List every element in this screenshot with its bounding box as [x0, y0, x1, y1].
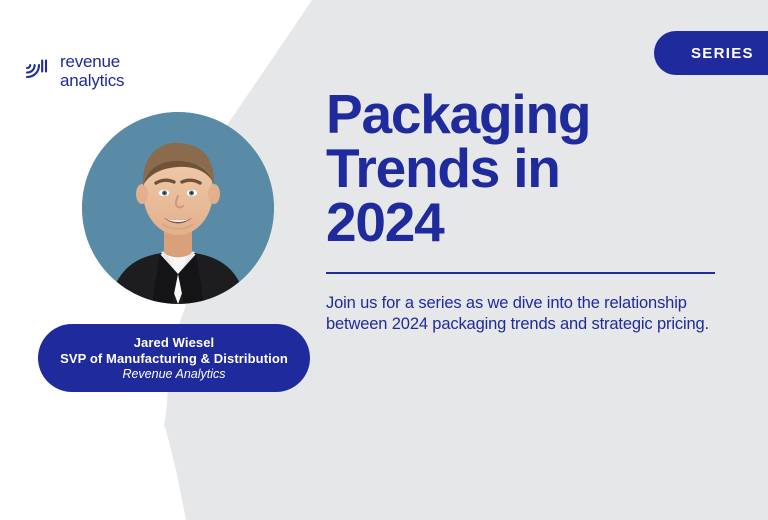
signal-arcs-icon: [22, 54, 52, 89]
brand-logo[interactable]: revenue analytics: [22, 52, 124, 90]
speaker-name-badge: Jared Wiesel SVP of Manufacturing & Dist…: [38, 324, 310, 392]
brand-logo-text: revenue analytics: [60, 52, 124, 90]
hero-content: Packaging Trends in 2024 Join us for a s…: [326, 88, 718, 353]
hero-subtitle: Join us for a series as we dive into the…: [326, 293, 718, 337]
title-divider: [326, 272, 715, 274]
speaker-company: Revenue Analytics: [122, 367, 225, 381]
series-badge[interactable]: SERIES: [654, 31, 768, 75]
speaker-role: SVP of Manufacturing & Distribution: [60, 351, 288, 366]
speaker-name: Jared Wiesel: [134, 335, 215, 350]
speaker-avatar: [82, 112, 274, 304]
page-title: Packaging Trends in 2024: [326, 88, 718, 250]
promo-banner: revenue analytics SERIES: [0, 0, 768, 520]
series-badge-label: SERIES: [691, 45, 754, 62]
